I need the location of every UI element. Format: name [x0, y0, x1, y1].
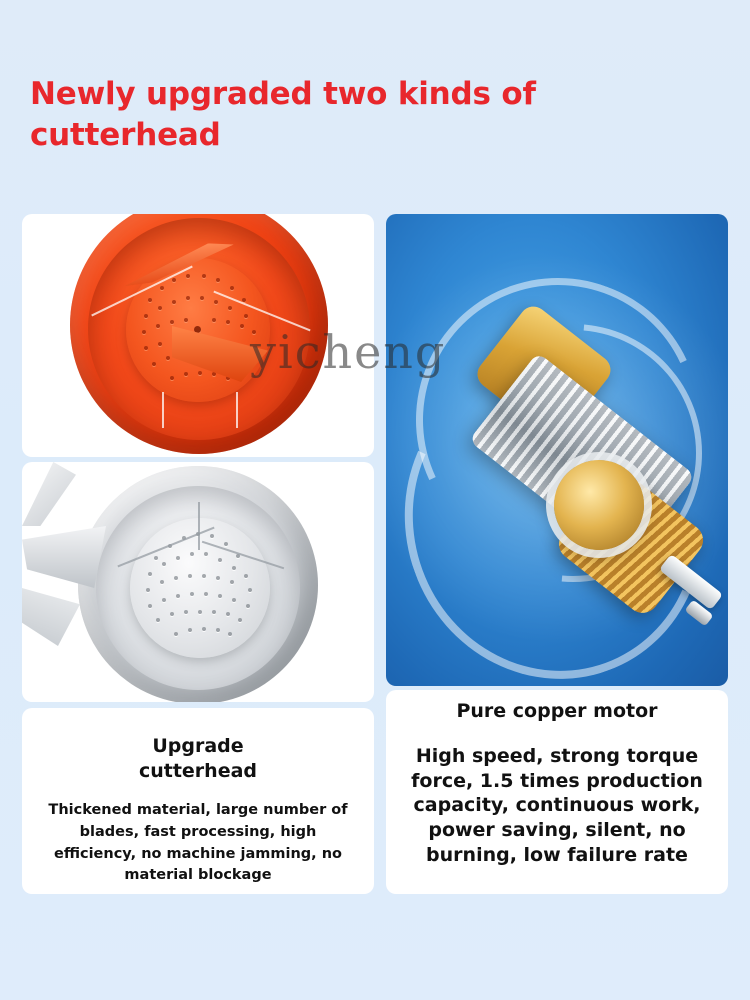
caption-card-motor: Pure copper motor High speed, strong tor…: [386, 690, 728, 894]
watermark-text: yicheng: [250, 325, 446, 379]
motor-description: High speed, strong torque force, 1.5 tim…: [396, 744, 718, 867]
image-panel-motor: [386, 214, 728, 686]
red-wire-3: [162, 392, 164, 428]
cutterhead-title: Upgrade cutterhead: [22, 734, 374, 784]
cutterhead-description: Thickened material, large number of blad…: [38, 800, 358, 887]
grey-wire-3: [198, 502, 200, 550]
motor-title: Pure copper motor: [386, 700, 728, 722]
grey-blade-right: [22, 588, 80, 646]
image-panel-grey-cutterhead: [22, 462, 374, 702]
page-title: Newly upgraded two kinds of cutterhead: [30, 74, 630, 156]
motor-rotor: [554, 460, 644, 550]
caption-card-cutterhead: Upgrade cutterhead Thickened material, l…: [22, 708, 374, 894]
grey-perforated-disc: [130, 518, 270, 658]
grey-blade-left: [22, 526, 106, 588]
cutterhead-title-line1: Upgrade: [22, 734, 374, 759]
product-infographic-page: Newly upgraded two kinds of cutterhead: [0, 0, 750, 1000]
grey-blade-upper: [22, 462, 76, 526]
cutterhead-title-line2: cutterhead: [22, 759, 374, 784]
red-wire-4: [236, 392, 238, 428]
